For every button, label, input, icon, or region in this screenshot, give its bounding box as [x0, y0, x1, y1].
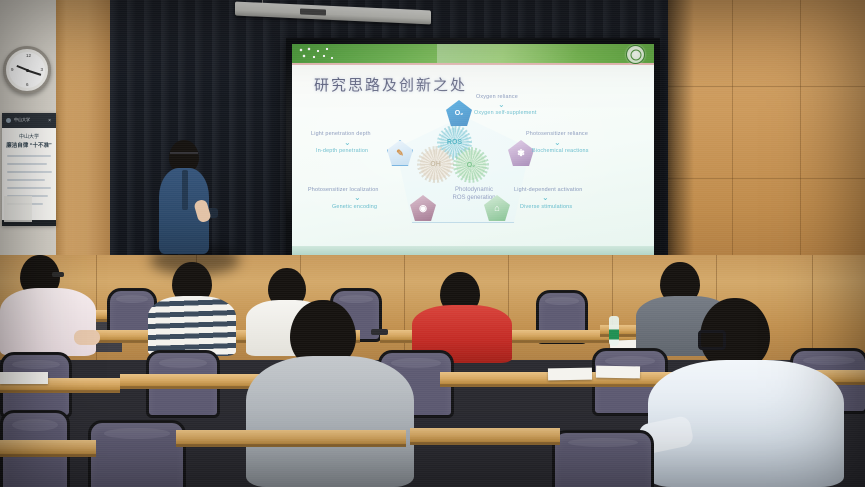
label-oxygen-top: Oxygen reliance	[476, 94, 518, 100]
location-pin-icon: ◉	[419, 204, 427, 213]
label-light-sub: Diverse stimulations	[520, 204, 572, 210]
slide-title: 研究思路及创新之处	[314, 74, 467, 95]
label-oxygen-sub: Oxygen self-supplement	[474, 110, 537, 116]
poster-header: 中山大学 ×	[2, 113, 56, 128]
university-seal-icon	[626, 45, 645, 64]
water-bottle	[609, 316, 619, 346]
lecture-hall-photo: 12 3 6 9 中山大学 × 中山大学 廉洁自律 “十不准”	[0, 0, 865, 487]
concept-diagram: ROS OH O₂ Photodynamic ROS generation O₂…	[292, 94, 654, 244]
attendee-hand	[74, 330, 100, 345]
label-penetration-top: Light penetration depth	[311, 131, 371, 137]
node-oxygen-pentagon: O₂	[446, 100, 472, 126]
poster-line-1: 中山大学	[2, 133, 56, 140]
chevron-down-icon: ⌄	[554, 139, 561, 147]
label-penetration-sub: In-depth penetration	[316, 148, 368, 154]
clock-number: 9	[11, 67, 14, 72]
clock-center-pin	[26, 69, 29, 72]
close-icon: ×	[48, 118, 51, 124]
label-ps-reliance-sub: Biochemical reactions	[532, 148, 589, 154]
node-oxygen-icon-label: O₂	[455, 110, 464, 117]
needle-icon: ✎	[396, 149, 404, 158]
label-localization-sub: Genetic encoding	[332, 204, 377, 210]
poster-line-2: 廉洁自律 “十不准”	[2, 141, 56, 149]
band-sheen	[437, 44, 636, 63]
paper-sheet	[596, 366, 640, 379]
clock-number: 6	[26, 82, 29, 87]
clock-face: 12 3 6 9	[9, 52, 45, 88]
glasses-icon	[52, 272, 64, 277]
glasses-icon	[170, 152, 198, 161]
desk	[176, 430, 406, 447]
center-caption-line-2: ROS generation	[420, 194, 528, 202]
attendee-body	[0, 288, 96, 356]
slide-header-rule	[292, 63, 654, 65]
label-localization-top: Photosensitizer localization	[308, 187, 379, 193]
chair	[88, 420, 186, 487]
clock-number: 3	[40, 67, 43, 72]
chair	[552, 430, 654, 487]
presenter-tie	[182, 170, 188, 210]
roller-brand-badge	[300, 8, 326, 15]
decorative-dots-icon	[298, 47, 340, 60]
clock-number: 12	[26, 53, 31, 58]
chevron-down-icon: ⌄	[344, 139, 351, 147]
smartphone	[371, 329, 388, 335]
left-wood-pillar	[56, 0, 114, 268]
chevron-down-icon: ⌄	[498, 101, 505, 109]
diagram-center-caption: Photodynamic ROS generation	[420, 186, 528, 202]
paper-sheet	[0, 372, 48, 384]
desk	[0, 440, 96, 457]
gear-oh-icon: OH	[420, 149, 451, 180]
center-caption-line-1: Photodynamic	[420, 186, 528, 194]
chevron-down-icon: ⌄	[542, 194, 549, 202]
chevron-down-icon: ⌄	[354, 194, 361, 202]
presentation-slide: 研究思路及创新之处 ROS OH O₂ Photodynamic ROS gen…	[292, 44, 654, 258]
wall-notice-small	[4, 196, 32, 222]
clock-minute-hand	[27, 69, 42, 75]
attendee-body	[246, 356, 414, 487]
poster-header-title: 中山大学	[14, 117, 30, 123]
desk	[410, 428, 560, 445]
slide-header-band	[292, 44, 654, 63]
gear-o2-icon: O₂	[456, 150, 486, 180]
attendee-body-striped	[148, 296, 236, 356]
lamp-icon: ⌂	[494, 204, 499, 213]
right-wall-shadow	[668, 0, 694, 292]
right-wood-wall	[668, 0, 865, 292]
paper-sheet	[548, 368, 592, 381]
label-ps-reliance-top: Photosensitizer reliance	[526, 131, 588, 137]
poster-logo-icon	[6, 118, 11, 123]
wall-clock: 12 3 6 9	[3, 46, 51, 94]
molecule-icon: ✾	[517, 149, 525, 158]
glasses-icon	[698, 330, 726, 350]
